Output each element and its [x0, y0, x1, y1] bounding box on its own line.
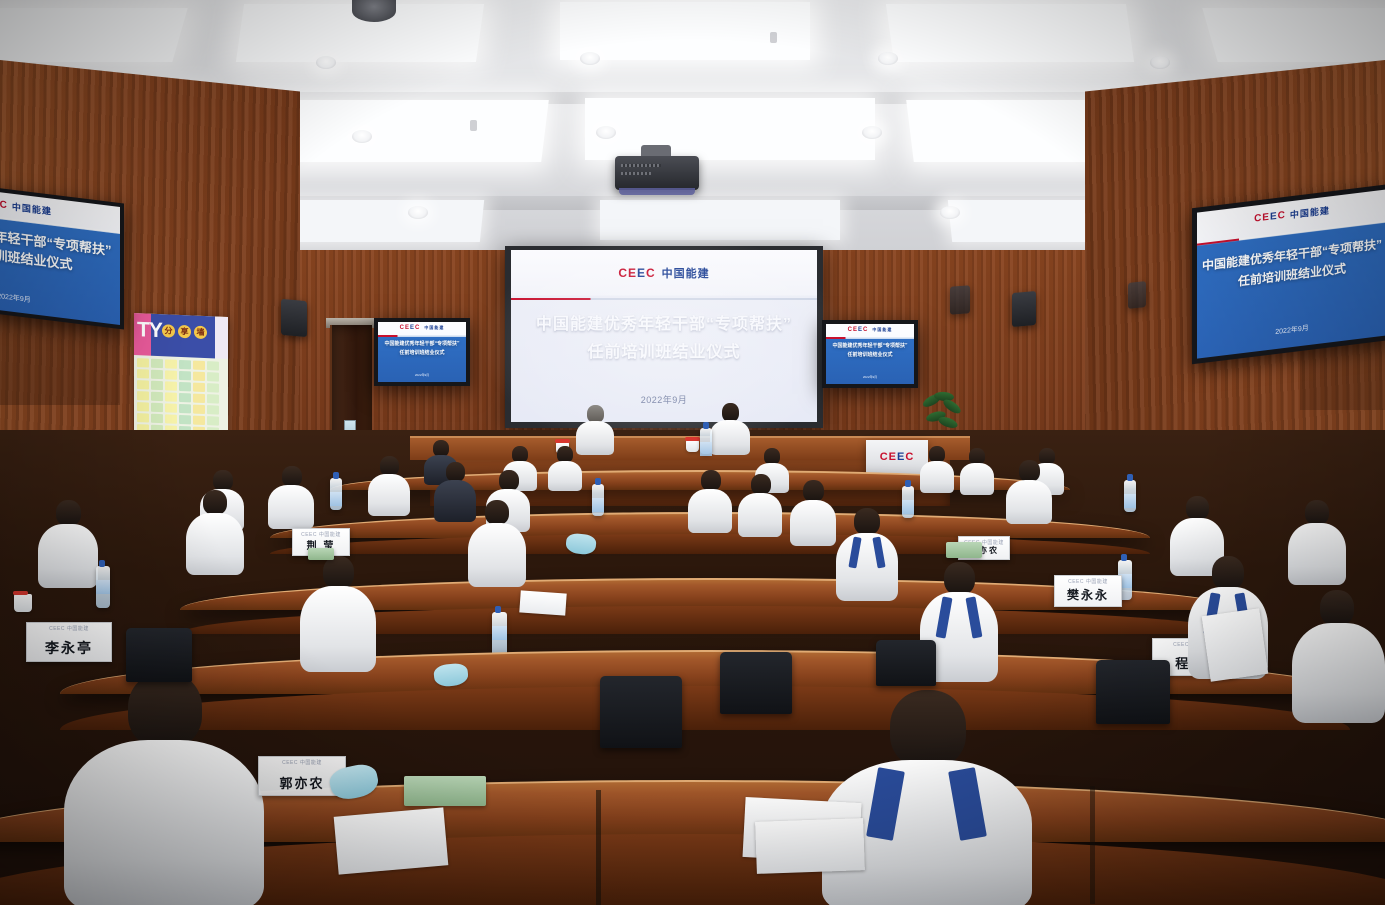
torso [836, 533, 898, 601]
water-bottle [700, 428, 712, 454]
sticky-note [179, 404, 191, 414]
attendee [738, 474, 782, 536]
sprinkler-head [470, 120, 477, 131]
wall-speaker [1012, 291, 1036, 327]
sticky-note [137, 380, 149, 390]
head [485, 500, 509, 525]
green-gift-box [404, 776, 486, 806]
placard-name: 郭亦农 [279, 773, 324, 795]
wall-speaker [1128, 281, 1146, 309]
torso [548, 461, 582, 491]
sticky-note [151, 403, 163, 413]
ceiling-light-panel [0, 8, 188, 62]
ceec-logo-icon: CEEC [1254, 210, 1286, 225]
attendee [38, 500, 98, 586]
poster-header: TY 分 享 墙 [134, 313, 228, 359]
placard-logo: CEEC 中国能建 [293, 531, 349, 538]
slide-title: 中国能建优秀年轻干部“专项帮扶” 任前培训班结业仪式 [826, 342, 914, 360]
slide-brand-cn: 中国能建 [12, 200, 52, 218]
attendee-front-right [822, 690, 1032, 905]
handout-papers [519, 590, 566, 615]
slide-brand-logo: CEEC 中国能建 [826, 327, 914, 333]
lectern-ceec-sign: CEEC [866, 440, 928, 474]
head [803, 480, 824, 502]
sprinkler-head [770, 32, 777, 43]
water-bottle [902, 486, 914, 518]
sticky-note [151, 359, 163, 369]
sticky-note [193, 361, 205, 371]
torso [738, 493, 782, 537]
slide-date: 2022年9月 [378, 373, 466, 377]
sticky-note [137, 358, 149, 368]
handout-papers [334, 807, 449, 874]
sticky-note [207, 383, 219, 393]
placard-logo: CEEC 中国能建 [259, 759, 345, 766]
attendee [368, 456, 410, 514]
ceec-logo-icon: CEEC [618, 266, 655, 280]
ceiling-light-panel [585, 98, 875, 160]
ceiling-light-panel [886, 4, 1134, 62]
head [1186, 496, 1209, 520]
slide-brand-cn: 中国能建 [424, 325, 444, 331]
recessed-downlight [580, 52, 600, 65]
slide-brand-logo: CEEC 中国能建 [378, 325, 466, 331]
slide-title-line1: 中国能建优秀年轻干部“专项帮扶” [826, 342, 914, 351]
sticky-note [151, 392, 163, 402]
recessed-downlight [1150, 56, 1170, 69]
sticky-note [165, 414, 177, 424]
poster-cn-char: 享 [178, 325, 191, 339]
slide-brand-cn: 中国能建 [872, 327, 892, 333]
ceiling-projector [615, 156, 699, 190]
green-gift-box [308, 548, 334, 560]
wall-speaker [281, 299, 307, 337]
torso [300, 586, 376, 672]
slide-date: 2022年9月 [826, 375, 914, 379]
tea-cup [686, 440, 699, 452]
attendee [920, 446, 954, 490]
presenter-female [710, 403, 750, 453]
monitor-front-left: CEEC 中国能建 中国能建优秀年轻干部“专项帮扶” 任前培训班结业仪式 202… [378, 322, 466, 382]
slide-title-line2: 任前培训班结业仪式 [378, 349, 466, 358]
sticky-note [151, 381, 163, 391]
head [203, 490, 227, 515]
placard-logo: CEEC 中国能建 [27, 625, 111, 632]
sticky-note [193, 383, 205, 393]
slide-divider [378, 335, 466, 337]
sticky-note [193, 372, 205, 382]
head [323, 556, 354, 589]
slide-divider [511, 298, 817, 300]
sticky-note [137, 402, 149, 412]
torso [1292, 623, 1385, 723]
ceec-logo-icon: CEEC [400, 325, 421, 331]
ceiling-light-panel [1202, 8, 1385, 62]
chair-back [600, 676, 682, 748]
head [1320, 590, 1354, 626]
poster-cn-char: 分 [162, 324, 175, 338]
attendee [1288, 500, 1346, 582]
head [701, 470, 721, 491]
torso [960, 463, 994, 495]
head [128, 672, 202, 748]
slide-brand-cn: 中国能建 [1290, 204, 1330, 222]
head [282, 466, 302, 487]
sticky-note [193, 405, 205, 415]
sticky-note [207, 394, 219, 404]
placard-name: 樊永永 [1067, 586, 1109, 606]
ceec-logo-icon: CEEC [880, 451, 915, 463]
attendee [468, 500, 526, 586]
sticky-note [207, 416, 219, 426]
head [1212, 556, 1244, 590]
ceec-logo-icon: CEEC [848, 327, 869, 333]
name-placard-fan-yongyong: CEEC 中国能建 樊永永 [1054, 575, 1122, 607]
chair-back [126, 628, 192, 682]
recessed-downlight [878, 52, 898, 65]
desk-seam [1090, 786, 1095, 904]
tea-cup [14, 594, 32, 612]
head [499, 470, 519, 491]
water-bottle [96, 566, 110, 608]
slide-title-line2: 任前培训班结业仪式 [511, 338, 817, 368]
sticky-note [165, 403, 177, 413]
sticky-note [193, 394, 205, 404]
slide-title-line1: 中国能建优秀年轻干部“专项帮扶” [378, 340, 466, 349]
head [1305, 500, 1329, 525]
sticky-note [193, 416, 205, 426]
water-bottle [592, 484, 604, 516]
slide-brand-cn: 中国能建 [662, 265, 710, 281]
sticky-note [207, 361, 219, 371]
handout-papers [755, 818, 865, 874]
lanyard [836, 533, 898, 601]
sticky-note [165, 359, 177, 369]
ceiling-speaker [352, 0, 396, 22]
placard-name: 李永亭 [45, 638, 93, 661]
sticky-note [179, 393, 191, 403]
attendee [186, 490, 244, 574]
poster-cn-char: 墙 [194, 326, 207, 340]
attendee [1006, 460, 1052, 522]
torso [368, 474, 410, 516]
slide-date: 2022年9月 [511, 393, 817, 406]
attendee [548, 446, 582, 488]
attendee [960, 448, 994, 492]
chair-back [720, 652, 792, 714]
recessed-downlight [352, 130, 372, 143]
sticky-note [179, 415, 191, 425]
head [944, 562, 975, 595]
ceec-logo-icon: CEEC [0, 196, 8, 211]
placard-logo: CEEC 中国能建 [1055, 578, 1121, 585]
recessed-downlight [408, 206, 428, 219]
sticky-note [151, 370, 163, 380]
slide-title: 中国能建优秀年轻干部“专项帮扶” 任前培训班结业仪式 [1197, 233, 1385, 296]
torso [38, 524, 98, 588]
torso [790, 500, 836, 546]
sticky-note [179, 382, 191, 392]
slide-brand-logo: CEEC 中国能建 [511, 262, 817, 284]
sticky-note [137, 391, 149, 401]
slide-title: 中国能建优秀年轻干部“专项帮扶” 任前培训班结业仪式 [511, 312, 817, 368]
recessed-downlight [862, 126, 882, 139]
sticky-note [207, 405, 219, 415]
torso [186, 513, 244, 575]
torso [688, 489, 732, 533]
main-projection-screen: CEEC 中国能建 中国能建优秀年轻干部“专项帮扶” 任前培训班结业仪式 202… [511, 250, 817, 422]
torso [1006, 480, 1052, 524]
sticky-note [179, 360, 191, 370]
torso [920, 461, 954, 493]
name-placard-li-yongting: CEEC 中国能建 李永亭 [26, 622, 112, 662]
green-gift-box [946, 542, 982, 558]
recessed-downlight [316, 56, 336, 69]
wall-speaker [950, 285, 970, 314]
handout-papers [1202, 608, 1269, 681]
sticky-note [137, 369, 149, 379]
head [380, 456, 399, 476]
sticky-note [151, 414, 163, 424]
attendee-front-left [64, 672, 264, 905]
head [213, 470, 233, 491]
recessed-downlight [940, 206, 960, 219]
attendee [836, 508, 898, 598]
water-bottle [330, 478, 342, 510]
torso [64, 740, 264, 905]
slide-title-line2: 任前培训班结业仪式 [826, 351, 914, 360]
desk-seam [596, 790, 601, 905]
chair-back [1096, 660, 1170, 724]
head [890, 690, 966, 768]
torso [268, 485, 314, 529]
torso [468, 523, 526, 587]
head [751, 474, 771, 495]
torso [1288, 523, 1346, 585]
conference-room-photo: TY 分 享 墙 CEEC 中国能建 中国能建优秀年轻干部“专项帮扶” 任前培训… [0, 0, 1385, 905]
slide-date: 2022年9月 [0, 280, 120, 316]
head [1019, 460, 1040, 482]
sticky-note [207, 372, 219, 382]
chair-back [876, 640, 936, 686]
poster-cn-badges: 分 享 墙 [162, 324, 207, 339]
recessed-downlight [596, 126, 616, 139]
slide-divider [826, 337, 914, 339]
attendee [1292, 590, 1385, 720]
sticky-note [165, 392, 177, 402]
tv-right-wall: CEEC 中国能建 中国能建优秀年轻干部“专项帮扶” 任前培训班结业仪式 202… [1197, 189, 1385, 358]
water-bottle [492, 612, 507, 658]
attendee [688, 470, 732, 532]
ceiling-light-panel [560, 2, 810, 60]
slide-title-line1: 中国能建优秀年轻干部“专项帮扶” [511, 312, 817, 338]
sticky-note [179, 371, 191, 381]
torso [710, 420, 750, 455]
monitor-front-right: CEEC 中国能建 中国能建优秀年轻干部“专项帮扶” 任前培训班结业仪式 202… [826, 324, 914, 384]
water-bottle [1124, 480, 1136, 512]
ceiling-light-panel [600, 200, 840, 240]
sticky-note [165, 381, 177, 391]
poster-latin-text: TY [137, 318, 162, 343]
attendee [300, 556, 376, 668]
head [56, 500, 81, 526]
sticky-note [137, 413, 149, 423]
head [446, 462, 465, 482]
attendee [790, 480, 836, 544]
head [854, 508, 880, 535]
attendee [268, 466, 314, 528]
slide-title: 中国能建优秀年轻干部“专项帮扶” 任前培训班结业仪式 [378, 340, 466, 358]
sticky-note [165, 370, 177, 380]
